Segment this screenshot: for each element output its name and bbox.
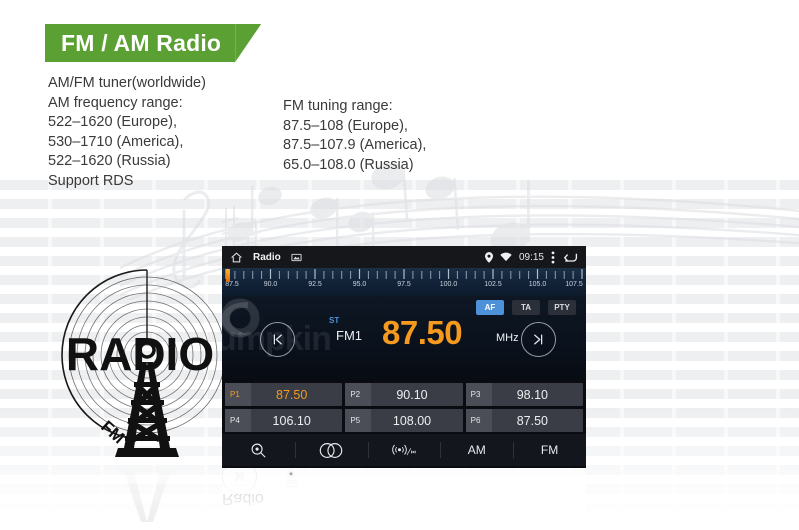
- spec-text-fm: FM tuning range: 87.5–108 (Europe), 87.5…: [283, 97, 426, 175]
- frequency-ticks: [222, 268, 586, 282]
- tick-label: 107.5: [565, 281, 583, 288]
- preset-button[interactable]: P687.50: [466, 409, 583, 432]
- image-icon[interactable]: [291, 252, 302, 263]
- tick-label: 100.0: [440, 281, 458, 288]
- status-bar-title: Radio: [253, 252, 281, 263]
- next-station-button[interactable]: [521, 322, 556, 357]
- reflection-veil: [222, 468, 586, 520]
- radio-main-display: umpkin AFTAPTY ST FM1 87.50 MHz: [222, 296, 586, 380]
- preset-frequency: 87.50: [251, 388, 342, 402]
- tick-label: 87.5: [225, 281, 239, 288]
- radio-logo-sub: FM: [97, 417, 128, 448]
- frequency-scale[interactable]: 87.590.092.595.097.5100.0102.5105.0107.5: [222, 268, 586, 296]
- preset-number: P5: [345, 409, 371, 432]
- band-label: FM1: [336, 328, 362, 343]
- preset-number: P4: [225, 409, 251, 432]
- preset-number: P6: [466, 409, 492, 432]
- rds-button-ta[interactable]: TA: [512, 300, 540, 315]
- preset-frequency: 90.10: [371, 388, 462, 402]
- frequency-unit: MHz: [496, 332, 519, 344]
- preset-number: P1: [225, 383, 251, 406]
- radio-bottom-toolbar: AMFM: [222, 434, 586, 466]
- preset-button[interactable]: P4106.10: [225, 409, 342, 432]
- preset-number: P3: [466, 383, 492, 406]
- tick-label: 102.5: [484, 281, 502, 288]
- toolbar-band-am[interactable]: AM: [440, 434, 513, 466]
- preset-frequency: 106.10: [251, 414, 342, 428]
- preset-button[interactable]: P187.50: [225, 383, 342, 406]
- preset-frequency: 108.00: [371, 414, 462, 428]
- preset-number: P2: [345, 383, 371, 406]
- back-arrow-icon[interactable]: [562, 251, 578, 263]
- tick-label: 105.0: [529, 281, 547, 288]
- android-status-bar: Radio 09:15: [222, 246, 586, 268]
- radio-logo-reflection: [48, 462, 233, 522]
- preset-frequency: 87.50: [492, 414, 583, 428]
- loc-dx-signal-icon[interactable]: [368, 434, 441, 466]
- search-scan-icon[interactable]: [222, 434, 295, 466]
- tick-label: 90.0: [264, 281, 278, 288]
- banner-title: FM / AM Radio: [61, 30, 221, 57]
- stereo-circles-icon[interactable]: [295, 434, 368, 466]
- preset-button[interactable]: P398.10: [466, 383, 583, 406]
- head-unit-screen: Radio 09:15: [222, 246, 586, 468]
- location-pin-icon: [485, 252, 493, 263]
- overflow-menu-icon[interactable]: [551, 251, 555, 264]
- section-banner: FM / AM Radio: [45, 24, 261, 62]
- spec-text-am: AM/FM tuner(worldwide) AM frequency rang…: [48, 74, 206, 191]
- banner-body: FM / AM Radio: [45, 24, 235, 62]
- preset-frequency: 98.10: [492, 388, 583, 402]
- tick-label: 95.0: [353, 281, 367, 288]
- home-icon[interactable]: [230, 251, 243, 264]
- head-unit-reflection: Radio 09:15: [222, 468, 586, 520]
- frequency-readout: ST FM1 87.50 MHz: [314, 316, 514, 362]
- rds-button-af[interactable]: AF: [476, 300, 504, 315]
- previous-station-button[interactable]: [260, 322, 295, 357]
- preset-grid: P187.50P290.10P398.10P4106.10P5108.00P68…: [222, 380, 586, 434]
- preset-button[interactable]: P290.10: [345, 383, 462, 406]
- wifi-icon: [500, 252, 512, 262]
- current-frequency: 87.50: [382, 314, 462, 352]
- status-bar-clock: 09:15: [519, 252, 544, 263]
- banner-arrow-tip: [235, 24, 261, 62]
- rds-button-group: AFTAPTY: [476, 300, 576, 315]
- tick-label: 92.5: [308, 281, 322, 288]
- radio-tower-logo: RADIO FM: [48, 258, 233, 463]
- tick-label: 97.5: [397, 281, 411, 288]
- rds-button-pty[interactable]: PTY: [548, 300, 576, 315]
- preset-button[interactable]: P5108.00: [345, 409, 462, 432]
- stereo-indicator: ST: [329, 316, 339, 325]
- frequency-tick-labels: 87.590.092.595.097.5100.0102.5105.0107.5: [222, 281, 586, 295]
- toolbar-band-fm[interactable]: FM: [513, 434, 586, 466]
- tuner-needle: [226, 269, 230, 282]
